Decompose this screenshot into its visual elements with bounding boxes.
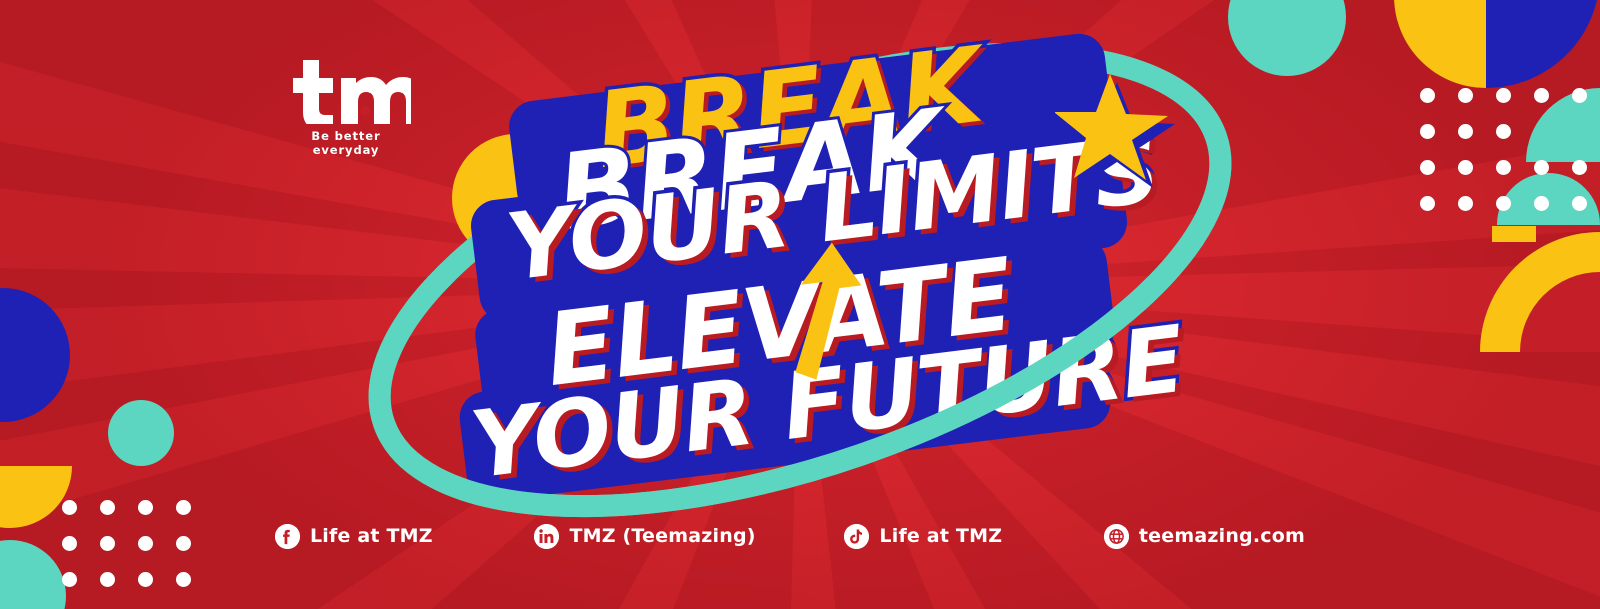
tm-wordmark-icon <box>281 58 411 124</box>
star-burst-icon <box>1055 62 1175 187</box>
brand-tagline: Be better everyday <box>281 129 411 157</box>
dot-grid-bottom-left <box>62 500 212 605</box>
globe-icon <box>1104 524 1129 549</box>
brand-logo: Be better everyday <box>281 58 411 157</box>
linkedin-icon <box>534 524 559 549</box>
social-link-label: Life at TMZ <box>879 525 1002 547</box>
social-link-facebook[interactable]: Life at TMZ <box>275 524 433 549</box>
social-link-linkedin[interactable]: TMZ (Teemazing) <box>534 524 755 549</box>
social-link-label: Life at TMZ <box>310 525 433 547</box>
teal-circle-left <box>108 400 174 466</box>
social-link-tiktok[interactable]: Life at TMZ <box>844 524 1002 549</box>
logo-dot-icon <box>360 106 370 116</box>
social-link-label: teemazing.com <box>1139 525 1305 547</box>
social-links-bar: Life at TMZ TMZ (Teemazing) <box>275 513 1305 559</box>
promo-banner: Be better everyday BREAK BREAK YOUR LIMI… <box>0 0 1600 609</box>
up-arrow-icon <box>770 240 880 380</box>
facebook-icon <box>275 524 300 549</box>
social-link-website[interactable]: teemazing.com <box>1104 524 1305 549</box>
yellow-block-right <box>1492 226 1536 242</box>
tiktok-icon <box>844 524 869 549</box>
dot-grid-top-right <box>1420 88 1600 228</box>
social-link-label: TMZ (Teemazing) <box>569 525 755 547</box>
